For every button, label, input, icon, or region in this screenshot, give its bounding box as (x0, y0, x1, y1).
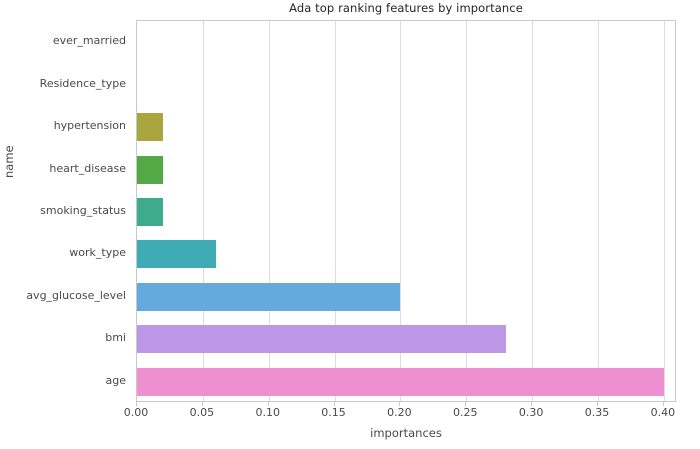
x-tick-label: 0.40 (633, 406, 693, 419)
y-tick-label: ever_married (0, 34, 126, 47)
bar (137, 198, 163, 226)
plot-area (136, 20, 676, 402)
x-tick-label: 0.20 (369, 406, 429, 419)
x-tick-label: 0.05 (172, 406, 232, 419)
bar (137, 283, 400, 311)
y-tick-label: heart_disease (0, 162, 126, 175)
bar (137, 240, 216, 268)
x-tick-label: 0.25 (435, 406, 495, 419)
y-tick-label: work_type (0, 246, 126, 259)
y-tick-label: Residence_type (0, 77, 126, 90)
y-tick-label: smoking_status (0, 204, 126, 217)
x-tick-label: 0.10 (238, 406, 298, 419)
bar (137, 113, 163, 141)
x-tick-label: 0.35 (567, 406, 627, 419)
bar (137, 325, 506, 353)
bar (137, 368, 664, 396)
chart-figure: Ada top ranking features by importance n… (0, 0, 700, 449)
bar-series (137, 21, 675, 401)
y-tick-label: avg_glucose_level (0, 289, 126, 302)
bar (137, 156, 163, 184)
y-tick-label: hypertension (0, 119, 126, 132)
x-tick-label: 0.30 (501, 406, 561, 419)
chart-title: Ada top ranking features by importance (136, 1, 676, 15)
x-tick-label: 0.15 (304, 406, 364, 419)
x-tick-label: 0.00 (106, 406, 166, 419)
y-tick-label: bmi (0, 331, 126, 344)
y-tick-label: age (0, 374, 126, 387)
x-axis-label: importances (136, 426, 676, 440)
